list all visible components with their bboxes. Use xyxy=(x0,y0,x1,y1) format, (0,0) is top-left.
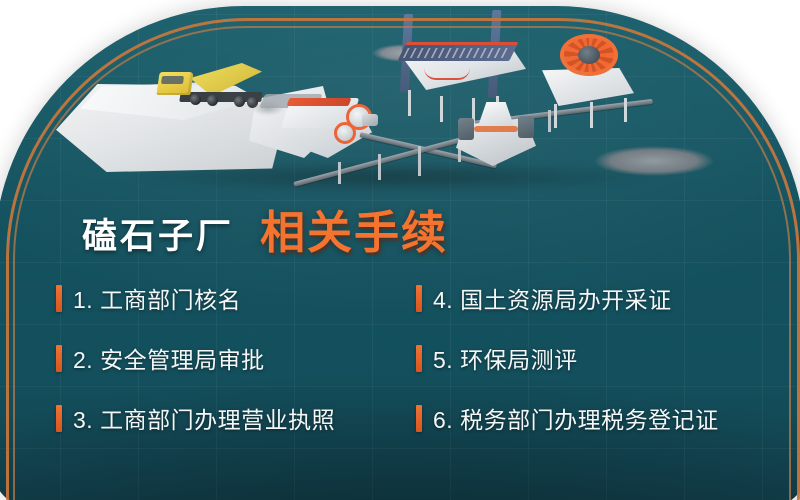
list-item: 2. 安全管理局审批 xyxy=(56,341,416,375)
list-item: 4. 国土资源局办开采证 xyxy=(416,281,756,315)
aggregate-stockpile-icon xyxy=(594,146,714,176)
screen-foot xyxy=(408,90,411,116)
truck-wheel-icon xyxy=(207,95,218,106)
jaw-crusher-motor xyxy=(362,114,378,126)
washer-leg xyxy=(624,98,627,122)
washer-leg xyxy=(590,102,593,128)
vibrating-screen-deck xyxy=(397,42,518,61)
list-item-label: 3. 工商部门办理营业执照 xyxy=(73,401,335,435)
bullet-marker-icon xyxy=(56,285,62,312)
bullet-marker-icon xyxy=(416,345,422,372)
cone-crusher-side xyxy=(458,118,474,140)
conveyor-leg xyxy=(338,162,341,184)
bullet-marker-icon xyxy=(56,345,62,372)
bullet-marker-icon xyxy=(416,285,422,312)
page-title: 磕石子厂 相关手续 xyxy=(82,196,448,261)
title-main-text: 磕石子厂 xyxy=(82,208,234,259)
conveyor-leg xyxy=(378,154,381,180)
list-item-label: 4. 国土资源局办开采证 xyxy=(433,281,672,315)
cone-crusher-side xyxy=(518,116,534,138)
list-item-label: 1. 工商部门核名 xyxy=(73,281,241,315)
truck-wheel-icon xyxy=(190,94,201,105)
poster-root: 磕石子厂 相关手续 1. 工商部门核名 4. 国土资源局办开采证 2. 安全管理… xyxy=(0,0,800,500)
jaw-crusher-flywheel-icon xyxy=(334,122,356,144)
sand-washer-hub xyxy=(578,46,600,64)
jaw-crusher-red-trim xyxy=(287,98,352,106)
cone-crusher-ring xyxy=(474,126,518,132)
bullet-marker-icon xyxy=(56,405,62,432)
bullet-marker-icon xyxy=(416,405,422,432)
dust-cloud xyxy=(246,98,290,118)
stone-crushing-plant-illustration xyxy=(0,6,794,201)
washer-leg xyxy=(554,104,557,128)
truck-wheel-icon xyxy=(234,96,245,107)
conveyor-leg xyxy=(548,110,551,132)
procedure-list: 1. 工商部门核名 4. 国土资源局办开采证 2. 安全管理局审批 5. 环保局… xyxy=(56,268,756,448)
list-item: 1. 工商部门核名 xyxy=(56,281,416,315)
conveyor-leg xyxy=(418,146,421,176)
dump-truck-cab xyxy=(156,72,193,95)
list-item-label: 2. 安全管理局审批 xyxy=(73,341,265,375)
list-item-label: 6. 税务部门办理税务登记证 xyxy=(433,401,719,435)
list-item-label: 5. 环保局测评 xyxy=(433,341,578,375)
list-item: 3. 工商部门办理营业执照 xyxy=(56,401,416,435)
list-item: 6. 税务部门办理税务登记证 xyxy=(416,401,756,435)
vibrating-screen-red-arc xyxy=(424,68,470,80)
title-accent-text: 相关手续 xyxy=(260,196,448,261)
list-item: 5. 环保局测评 xyxy=(416,341,756,375)
screen-foot xyxy=(440,96,443,122)
